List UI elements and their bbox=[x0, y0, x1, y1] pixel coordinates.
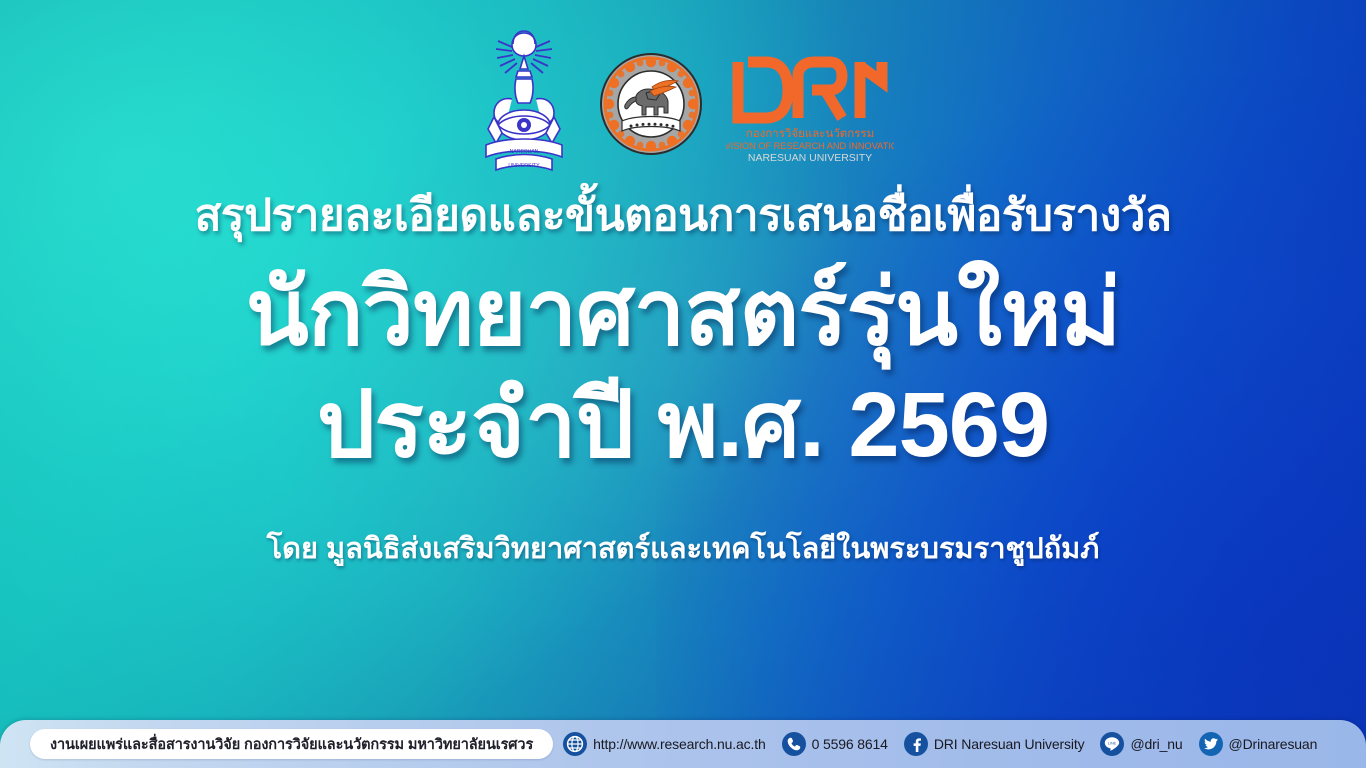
footer-org-label: งานเผยแพร่และสื่อสารงานวิจัย กองการวิจัย… bbox=[50, 733, 533, 756]
footer-twitter-label: @Drinaresuan bbox=[1229, 736, 1318, 752]
footer-contact-group: http://www.research.nu.ac.th 0 5596 8614… bbox=[563, 732, 1327, 756]
headline-credit: โดย มูลนิธิส่งเสริมวิทยาศาสตร์และเทคโนโล… bbox=[0, 531, 1366, 569]
dri-wordmark-icon: กองการวิจัยและนวัตกรรม DIVISION OF RESEA… bbox=[726, 42, 894, 164]
svg-text:DIVISION OF RESEARCH AND INNOV: DIVISION OF RESEARCH AND INNOVATION bbox=[726, 141, 894, 151]
headline-kicker: สรุปรายละเอียดและขั้นตอนการเสนอชื่อเพื่อ… bbox=[0, 188, 1366, 243]
svg-text:NARESUAN UNIVERSITY: NARESUAN UNIVERSITY bbox=[748, 152, 872, 164]
footer-contact-facebook[interactable]: DRI Naresuan University bbox=[904, 732, 1085, 756]
elephant-emblem-logo bbox=[598, 43, 704, 162]
headline-primary-line-1: นักวิทยาศาสตร์รุ่นใหม่ bbox=[0, 255, 1366, 373]
svg-text:UNIVERSITY: UNIVERSITY bbox=[508, 163, 540, 169]
naresuan-university-seal-logo: NARESUAN UNIVERSITY bbox=[472, 25, 576, 180]
svg-text:กองการวิจัยและนวัตกรรม: กองการวิจัยและนวัตกรรม bbox=[746, 127, 874, 140]
svg-text:LINE: LINE bbox=[1108, 741, 1117, 745]
naresuan-university-seal-icon: NARESUAN UNIVERSITY bbox=[472, 25, 576, 175]
dri-logo: กองการวิจัยและนวัตกรรม DIVISION OF RESEA… bbox=[726, 36, 894, 169]
footer-facebook-label: DRI Naresuan University bbox=[934, 736, 1085, 752]
footer-bar: งานเผยแพร่และสื่อสารงานวิจัย กองการวิจัย… bbox=[0, 720, 1366, 768]
twitter-icon bbox=[1199, 732, 1223, 756]
footer-website-label: http://www.research.nu.ac.th bbox=[593, 736, 765, 752]
footer-line-label: @dri_nu bbox=[1130, 736, 1182, 752]
headline-primary-line-2: ประจำปี พ.ศ. 2569 bbox=[0, 367, 1366, 485]
line-icon: LINE bbox=[1100, 732, 1124, 756]
svg-text:NARESUAN: NARESUAN bbox=[510, 149, 539, 155]
footer-contact-website[interactable]: http://www.research.nu.ac.th bbox=[563, 732, 765, 756]
footer-phone-label: 0 5596 8614 bbox=[812, 736, 888, 752]
footer-contact-line[interactable]: LINE @dri_nu bbox=[1100, 732, 1182, 756]
footer-org-pill: งานเผยแพร่และสื่อสารงานวิจัย กองการวิจัย… bbox=[30, 729, 553, 759]
headline-block: สรุปรายละเอียดและขั้นตอนการเสนอชื่อเพื่อ… bbox=[0, 188, 1366, 568]
facebook-icon bbox=[904, 732, 928, 756]
logo-row: NARESUAN UNIVERSITY bbox=[0, 22, 1366, 182]
footer-contact-phone[interactable]: 0 5596 8614 bbox=[782, 732, 888, 756]
banner-canvas: NARESUAN UNIVERSITY bbox=[0, 0, 1366, 768]
footer-contact-twitter[interactable]: @Drinaresuan bbox=[1199, 732, 1318, 756]
elephant-emblem-icon bbox=[598, 51, 704, 157]
phone-icon bbox=[782, 732, 806, 756]
globe-icon bbox=[563, 732, 587, 756]
